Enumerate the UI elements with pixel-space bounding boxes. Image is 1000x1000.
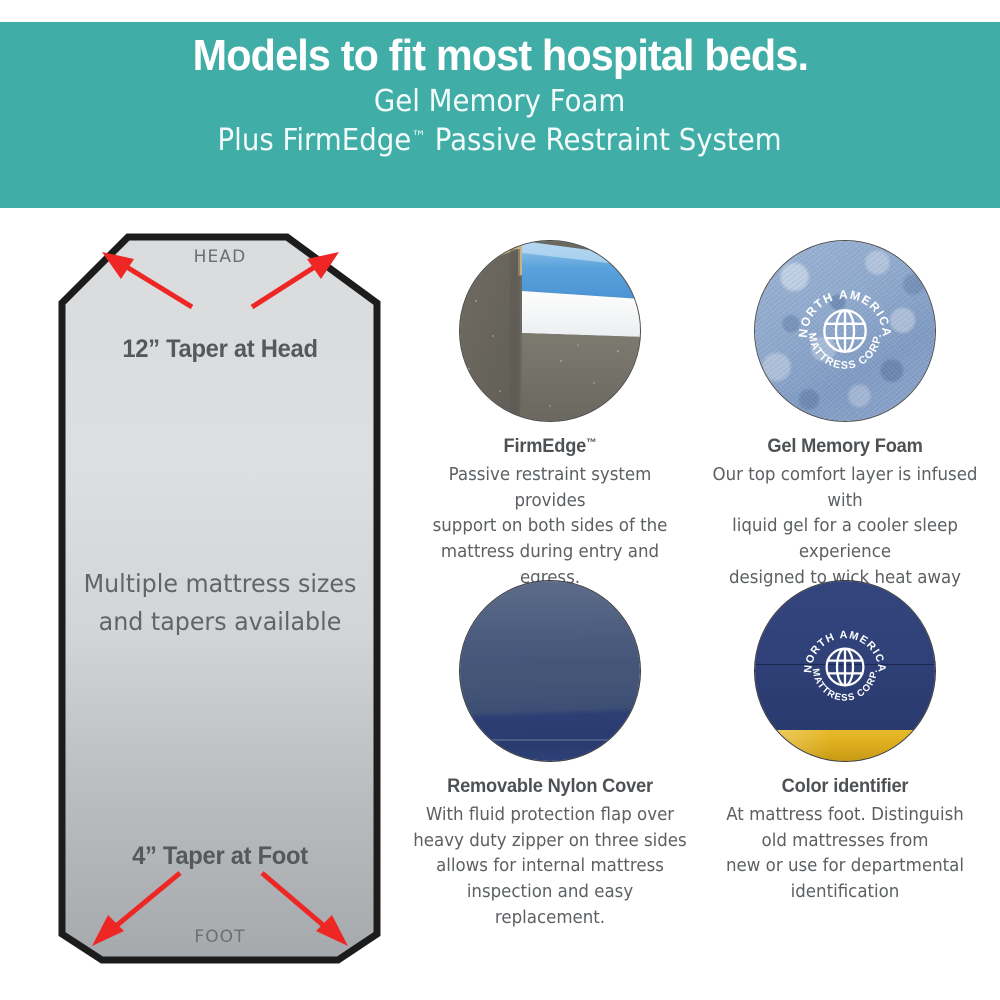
north-america-mattress-corp-logo-icon: NORTH AMERICA MATTRESS CORP.: [791, 277, 899, 385]
feature-desc-line: inspection and easy replacement.: [412, 880, 688, 931]
feature-title-text: Color identifier: [782, 776, 909, 797]
brand-logo: NORTH AMERICA MATTRESS CORP.: [791, 277, 899, 385]
header-subtitle-line2: Plus FirmEdge™ Passive Restraint System: [218, 121, 782, 161]
mattress-diagram: HEAD 12” Taper at Head Multiple mattress…: [40, 225, 400, 985]
mattress-center-line1: Multiple mattress sizes: [49, 565, 391, 603]
feature-desc-line: identification: [707, 880, 983, 906]
feature-card-gel-memory-foam: NORTH AMERICA MATTRESS CORP. Gel Memory …: [700, 240, 990, 617]
nylon-cover-photo: [459, 580, 641, 762]
feature-desc-line: new or use for departmental: [707, 854, 983, 880]
feature-desc-firmedge: Passive restraint system provides suppor…: [412, 463, 688, 592]
gel-memory-foam-photo: NORTH AMERICA MATTRESS CORP.: [754, 240, 936, 422]
mattress-center-line2: and tapers available: [49, 603, 391, 641]
feature-title-color-identifier: Color identifier: [706, 776, 984, 798]
feature-desc-line: heavy duty zipper on three sides: [412, 829, 688, 855]
feature-desc-line: allows for internal mattress: [412, 854, 688, 880]
mattress-center-note: Multiple mattress sizes and tapers avail…: [49, 565, 391, 641]
feature-desc-line: old mattresses from: [707, 829, 983, 855]
feature-grid: FirmEdge™ Passive restraint system provi…: [405, 240, 1000, 980]
feature-desc-line: Passive restraint system provides: [412, 463, 688, 514]
feature-desc-line: At mattress foot. Distinguish: [707, 803, 983, 829]
feature-desc-line: support on both sides of the: [412, 514, 688, 540]
page-title: Models to fit most hospital beds.: [192, 32, 807, 80]
head-taper-callout: 12” Taper at Head: [49, 335, 391, 364]
feature-title-firmedge: FirmEdge™: [411, 436, 689, 458]
foot-taper-callout: 4” Taper at Foot: [49, 842, 391, 871]
brand-logo: NORTH AMERICA MATTRESS CORP.: [797, 619, 893, 715]
header-subtitle-line2-post: Passive Restraint System: [426, 123, 782, 158]
feature-title-text: Removable Nylon Cover: [447, 776, 653, 797]
infographic-page: Models to fit most hospital beds. Gel Me…: [0, 0, 1000, 1000]
feature-desc-removable-nylon-cover: With fluid protection flap over heavy du…: [412, 803, 688, 932]
feature-title-gel-memory-foam: Gel Memory Foam: [706, 436, 984, 458]
color-identifier-photo: NORTH AMERICA MATTRESS CORP.: [754, 580, 936, 762]
gold-color-band: [755, 730, 935, 761]
feature-desc-line: With fluid protection flap over: [412, 803, 688, 829]
firmedge-foam-illustration: [460, 241, 641, 422]
feature-desc-line: Our top comfort layer is infused with: [707, 463, 983, 514]
feature-title-text: Gel Memory Foam: [767, 436, 922, 457]
header-subtitle-line2-pre: Plus FirmEdge: [218, 123, 412, 158]
header-subtitle: Gel Memory Foam Plus FirmEdge™ Passive R…: [218, 82, 782, 161]
feature-desc-line: liquid gel for a cooler sleep experience: [707, 514, 983, 565]
feature-card-removable-nylon-cover: Removable Nylon Cover With fluid protect…: [405, 580, 695, 932]
feature-card-color-identifier: NORTH AMERICA MATTRESS CORP. Color ident…: [700, 580, 990, 906]
trademark-symbol: ™: [412, 127, 427, 146]
mattress-head-label: HEAD: [40, 247, 400, 267]
feature-desc-color-identifier: At mattress foot. Distinguish old mattre…: [707, 803, 983, 906]
north-america-mattress-corp-logo-icon: NORTH AMERICA MATTRESS CORP.: [797, 619, 893, 715]
firmedge-foam-photo: [459, 240, 641, 422]
feature-card-firmedge: FirmEdge™ Passive restraint system provi…: [405, 240, 695, 592]
feature-title-text: FirmEdge: [504, 436, 587, 457]
feature-title-removable-nylon-cover: Removable Nylon Cover: [411, 776, 689, 798]
trademark-symbol: ™: [586, 437, 596, 449]
mattress-foot-label: FOOT: [40, 927, 400, 947]
header-subtitle-line1: Gel Memory Foam: [218, 82, 782, 122]
header-banner: Models to fit most hospital beds. Gel Me…: [0, 22, 1000, 208]
